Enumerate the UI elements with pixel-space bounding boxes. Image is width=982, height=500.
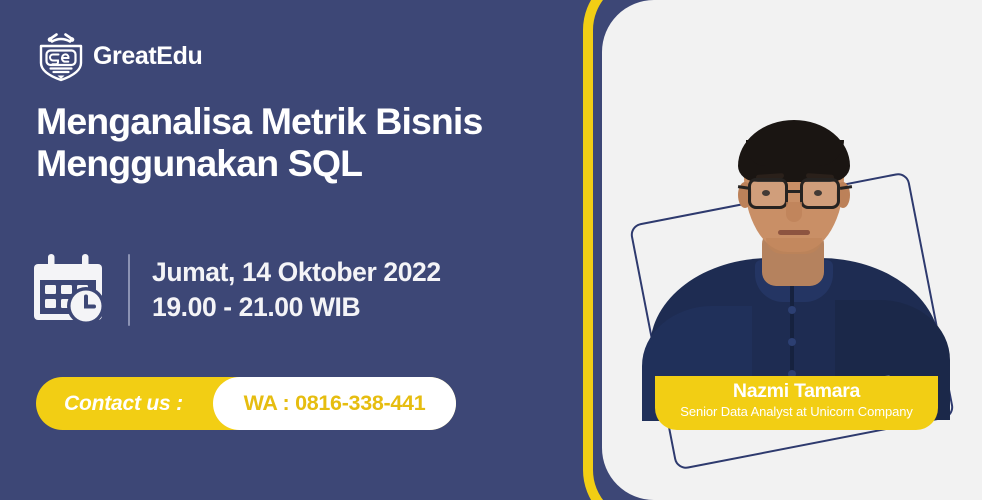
speaker-name: Nazmi Tamara: [655, 379, 938, 404]
schedule-text: Jumat, 14 Oktober 2022 19.00 - 21.00 WIB: [152, 255, 441, 325]
contact-label: Contact us :: [64, 392, 183, 416]
glasses-left-lens: [748, 178, 788, 209]
schedule-block: Jumat, 14 Oktober 2022 19.00 - 21.00 WIB: [30, 250, 441, 330]
greatedu-shield-logo-icon: [36, 30, 86, 82]
schedule-date: Jumat, 14 Oktober 2022: [152, 255, 441, 290]
schedule-divider: [128, 254, 130, 326]
title-line-1: Menganalisa Metrik Bisnis: [36, 100, 576, 142]
calendar-clock-icon: [30, 250, 110, 330]
glasses-right-lens: [800, 178, 840, 209]
brand-logo: GreatEdu: [36, 30, 202, 82]
whatsapp-number: WA : 0816-338-441: [244, 391, 426, 416]
title-line-2: Menggunakan SQL: [36, 142, 576, 184]
brand-name: GreatEdu: [93, 44, 202, 69]
speaker-panel: Nazmi Tamara Senior Data Analyst at Unic…: [602, 0, 982, 500]
speaker-role: Senior Data Analyst at Unicorn Company: [655, 404, 938, 421]
webinar-promo-banner: { "brand": { "name": "GreatEdu", "logo_i…: [0, 0, 982, 500]
whatsapp-contact-button[interactable]: WA : 0816-338-441: [213, 377, 456, 430]
contact-bar: Contact us : WA : 0816-338-441: [36, 377, 456, 430]
schedule-time: 19.00 - 21.00 WIB: [152, 290, 441, 325]
left-content-column: GreatEdu Menganalisa Metrik Bisnis Mengg…: [0, 0, 600, 500]
page-title: Menganalisa Metrik Bisnis Menggunakan SQ…: [36, 100, 576, 184]
speaker-portrait: [650, 110, 940, 410]
speaker-name-banner: Nazmi Tamara Senior Data Analyst at Unic…: [655, 376, 938, 430]
